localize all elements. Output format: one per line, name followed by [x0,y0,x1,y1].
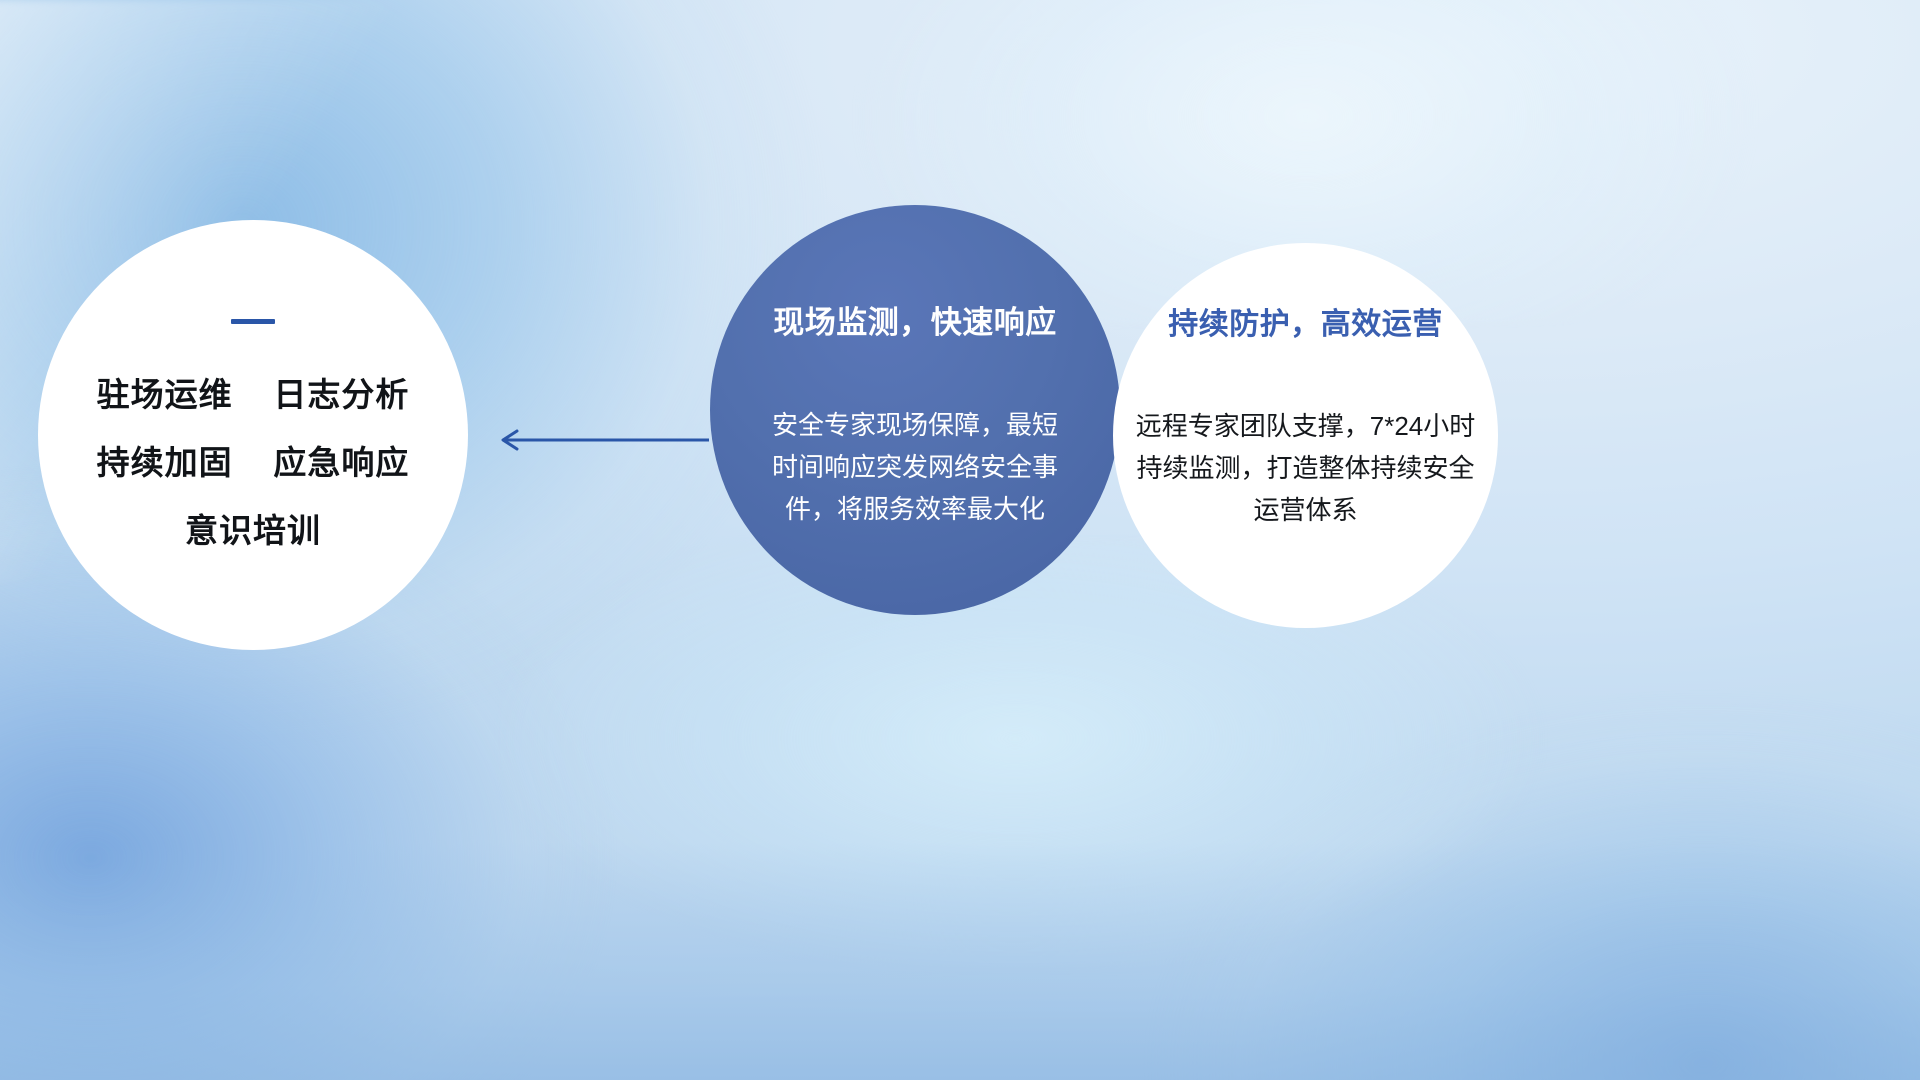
background-bottom-band [0,842,1920,1080]
slide-canvas: 驻场运维 日志分析 持续加固 应急响应 意识培训 现场监测，快速响应 安全专家现… [0,0,1920,1080]
capability-tag-row: 持续加固 应急响应 [97,436,410,484]
service-capabilities-circle[interactable]: 驻场运维 日志分析 持续加固 应急响应 意识培训 [38,220,468,650]
arrow-left-svg [495,424,710,456]
divider-dash-icon [231,319,275,324]
capability-tag-row: 意识培训 [185,504,321,552]
onsite-monitoring-circle[interactable]: 现场监测，快速响应 安全专家现场保障，最短时间响应突发网络安全事件，将服务效率最… [710,205,1120,615]
capability-tag-row: 驻场运维 日志分析 [97,368,410,416]
onsite-monitoring-body: 安全专家现场保障，最短时间响应突发网络安全事件，将服务效率最大化 [765,404,1065,530]
continuous-protection-body: 远程专家团队支撑，7*24小时持续监测，打造整体持续安全运营体系 [1128,405,1484,531]
onsite-monitoring-content: 现场监测，快速响应 安全专家现场保障，最短时间响应突发网络安全事件，将服务效率最… [750,205,1080,530]
continuous-protection-title: 持续防护，高效运营 [1122,299,1490,343]
onsite-monitoring-title: 现场监测，快速响应 [750,297,1080,342]
capability-tag-list: 驻场运维 日志分析 持续加固 应急响应 意识培训 [97,368,410,552]
arrow-left-icon [495,424,710,456]
continuous-protection-circle[interactable]: 持续防护，高效运营 远程专家团队支撑，7*24小时持续监测，打造整体持续安全运营… [1113,243,1498,628]
continuous-protection-content: 持续防护，高效运营 远程专家团队支撑，7*24小时持续监测，打造整体持续安全运营… [1122,243,1490,531]
